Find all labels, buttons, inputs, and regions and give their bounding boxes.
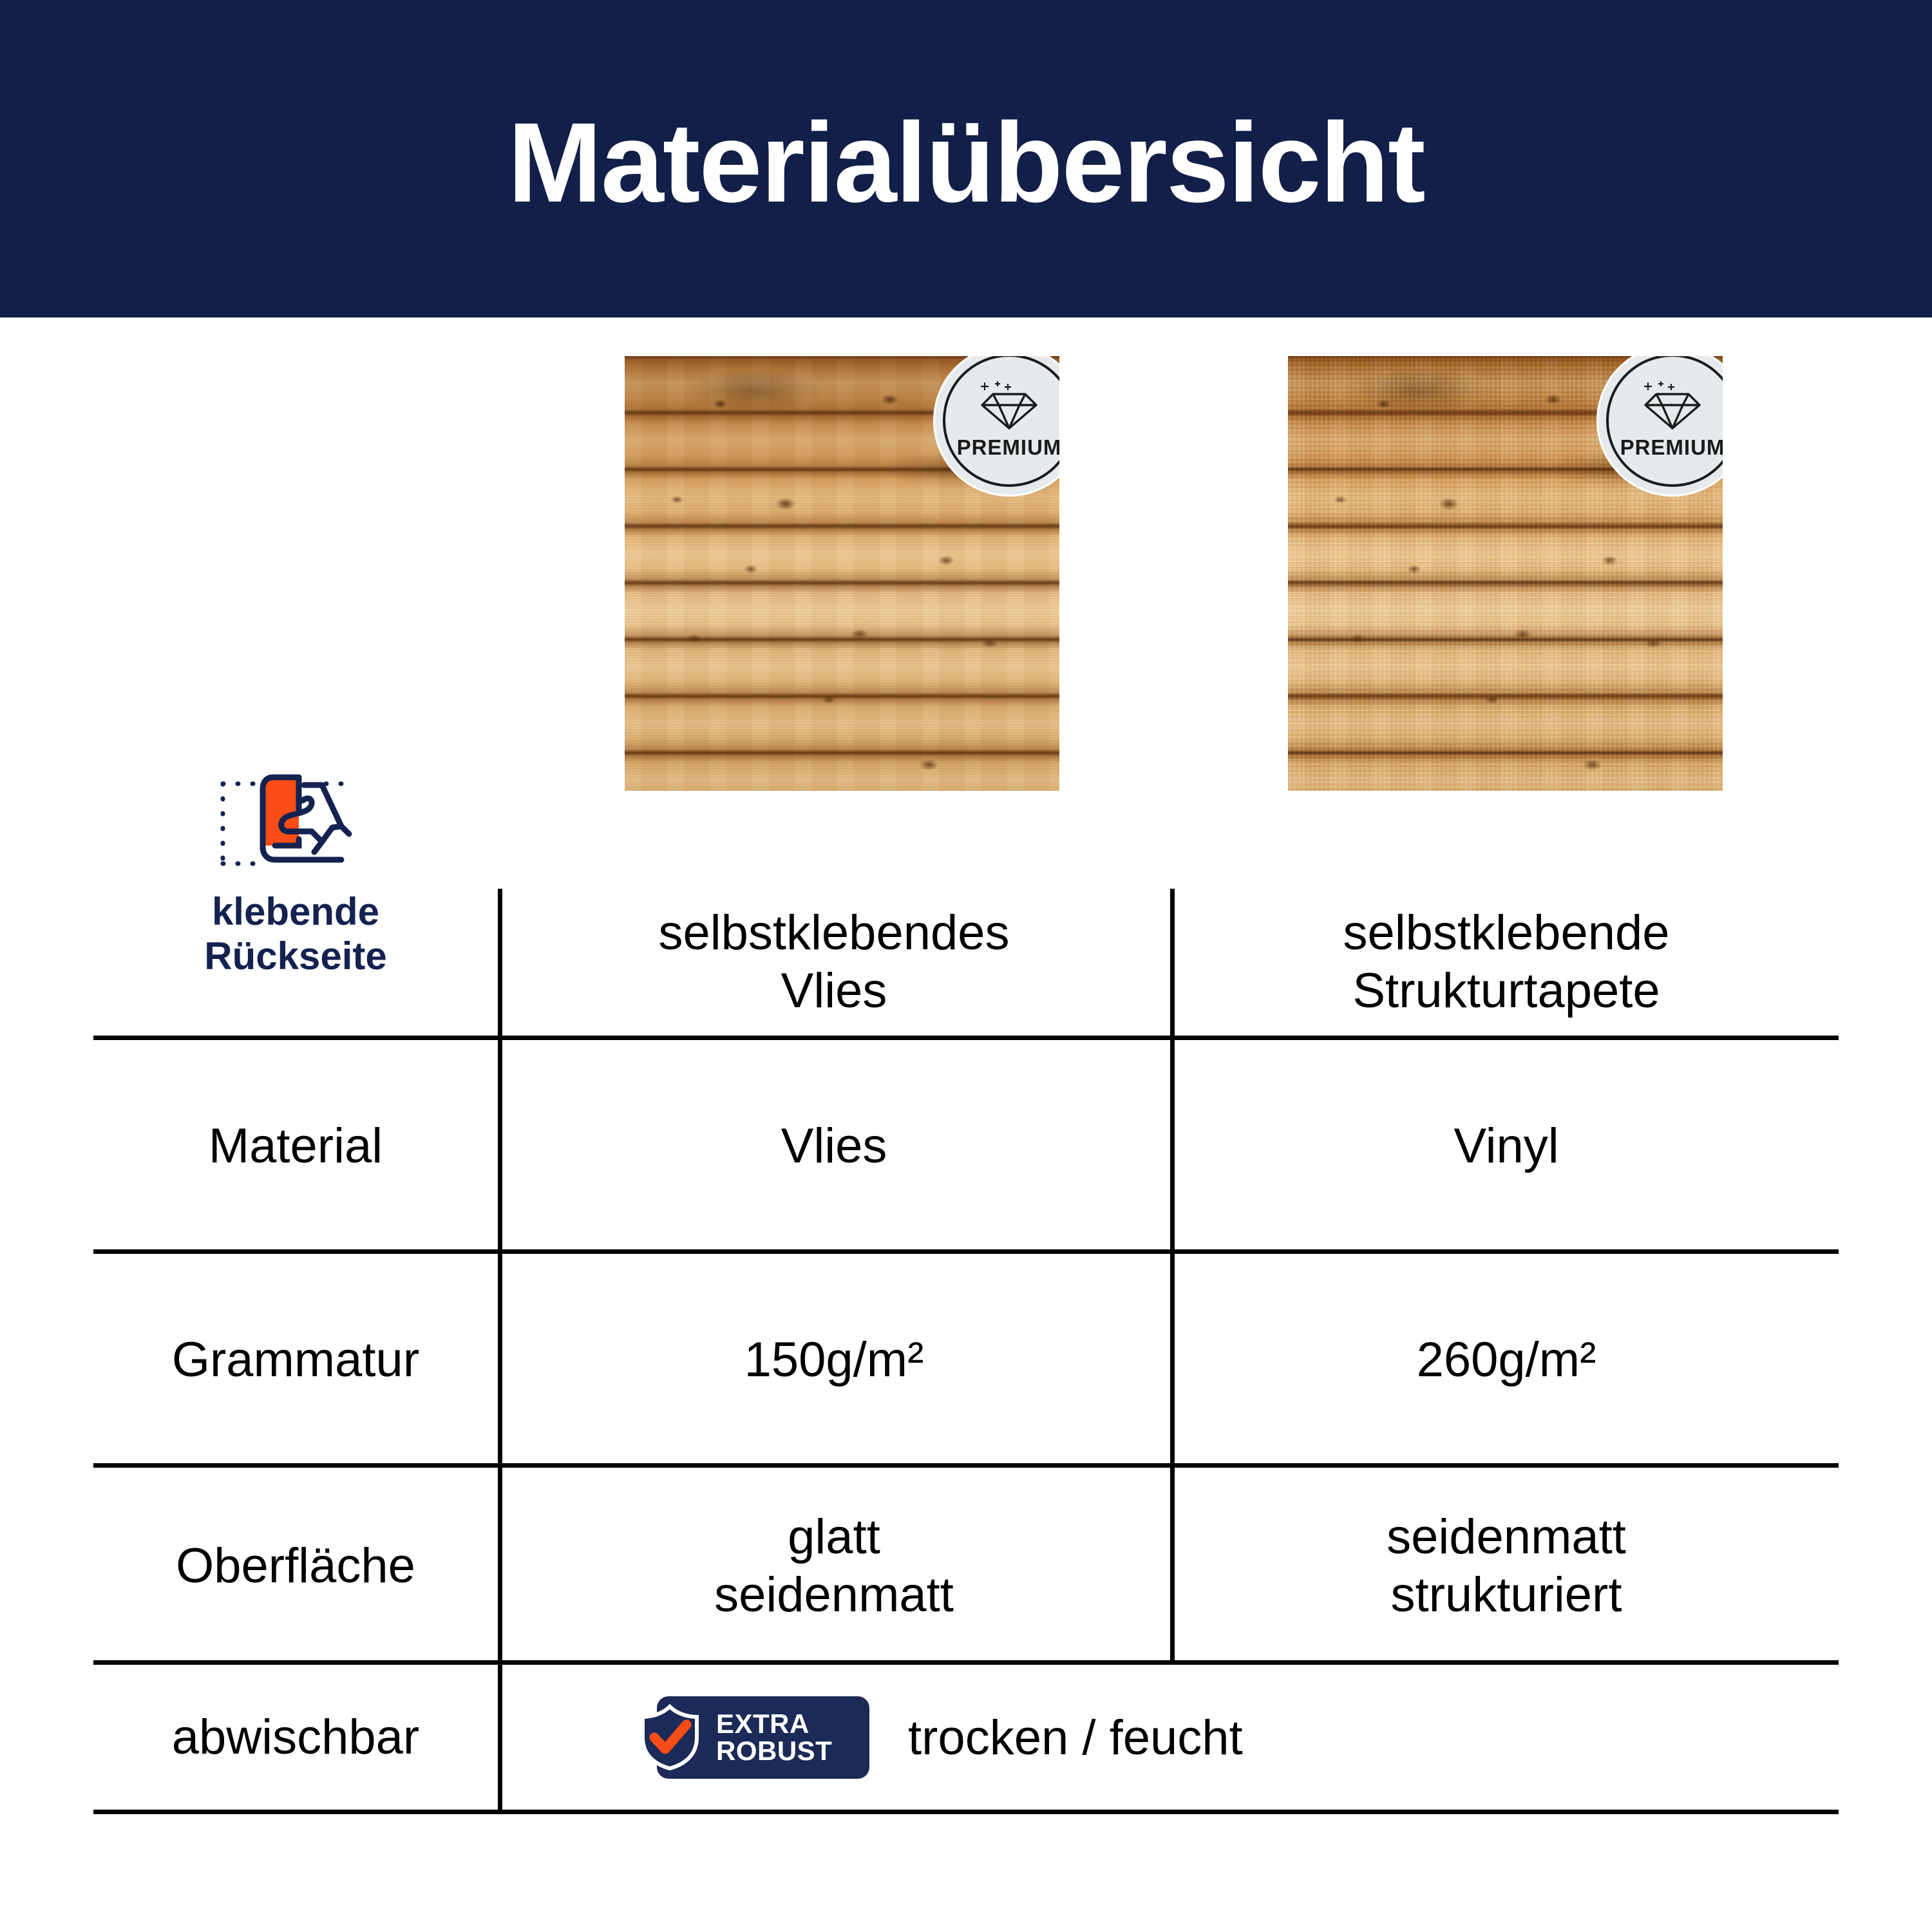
preview-image-strukturtapete: PREMIUM: [1288, 356, 1723, 791]
cell-text-line1: selbstklebendes: [658, 904, 1009, 962]
cell-text-line2: strukturiert: [1387, 1566, 1626, 1624]
table-divider-col2: [1170, 889, 1175, 1660]
wipeable-value: trocken / feucht: [908, 1710, 1243, 1766]
row-label: Oberfläche: [176, 1537, 415, 1595]
adhesive-caption-line1: klebende: [204, 889, 386, 934]
cell-row4-label: abwischbar: [93, 1665, 498, 1810]
badge-ring: [1606, 356, 1723, 487]
cell-text-line1: Vlies: [781, 1117, 887, 1175]
shield-check-icon: [636, 1704, 703, 1771]
table-divider-col1: [498, 889, 502, 1811]
cell-row0-col1: selbstklebendes Vlies: [502, 889, 1166, 1036]
cell-text-line1: Vinyl: [1454, 1117, 1558, 1175]
cell-text-line1: 260g/m²: [1417, 1331, 1596, 1389]
extra-robust-text: EXTRA ROBUST: [716, 1710, 832, 1764]
cell-row2-col1: 150g/m²: [502, 1254, 1166, 1466]
adhesive-back-caption: klebende Rückseite: [204, 889, 386, 978]
page-header: Materialübersicht: [0, 0, 1932, 317]
row-label: Material: [209, 1117, 383, 1175]
extra-robust-badge: EXTRA ROBUST: [657, 1696, 869, 1779]
material-overview-sheet: Materialübersicht PREMIUM: [0, 0, 1932, 1932]
table-rule-row0-bottom: [93, 1036, 1839, 1040]
adhesive-back-block: klebende Rückseite: [93, 770, 498, 978]
cell-text-line1: seidenmatt: [1387, 1508, 1626, 1566]
cell-row1-col2: Vinyl: [1175, 1040, 1838, 1253]
row-label: Grammatur: [172, 1331, 419, 1389]
row-label: abwischbar: [172, 1709, 419, 1766]
cell-text-line1: selbstklebende: [1343, 904, 1669, 962]
cell-text-line2: Vlies: [658, 962, 1009, 1020]
adhesive-caption-line2: Rückseite: [204, 934, 386, 978]
cell-row1-col1: Vlies: [502, 1040, 1166, 1253]
cell-row2-label: Grammatur: [93, 1254, 498, 1466]
cell-row3-col1: glatt seidenmatt: [502, 1468, 1166, 1665]
extra-robust-line2: ROBUST: [716, 1738, 832, 1765]
cell-text-line2: seidenmatt: [714, 1566, 954, 1624]
cell-text-line1: 150g/m²: [744, 1331, 924, 1389]
preview-image-vlies: PREMIUM: [625, 356, 1059, 791]
cell-row2-col2: 260g/m²: [1175, 1254, 1838, 1466]
page-title: Materialübersicht: [507, 106, 1424, 220]
extra-robust-line1: EXTRA: [716, 1710, 832, 1738]
cell-text-line2: Strukturtapete: [1343, 962, 1669, 1020]
cell-row3-col2: seidenmatt strukturiert: [1175, 1468, 1838, 1665]
peel-adhesive-back-icon: [215, 770, 376, 873]
cell-row1-label: Material: [93, 1040, 498, 1253]
badge-ring: [943, 356, 1059, 487]
cell-text-line1: glatt: [714, 1508, 954, 1566]
table-rule-bottom: [93, 1810, 1839, 1814]
cell-row0-col2: selbstklebende Strukturtapete: [1175, 889, 1838, 1036]
cell-row3-label: Oberfläche: [93, 1468, 498, 1665]
cell-row4-value: EXTRA ROBUST trocken / feucht: [657, 1696, 1243, 1779]
